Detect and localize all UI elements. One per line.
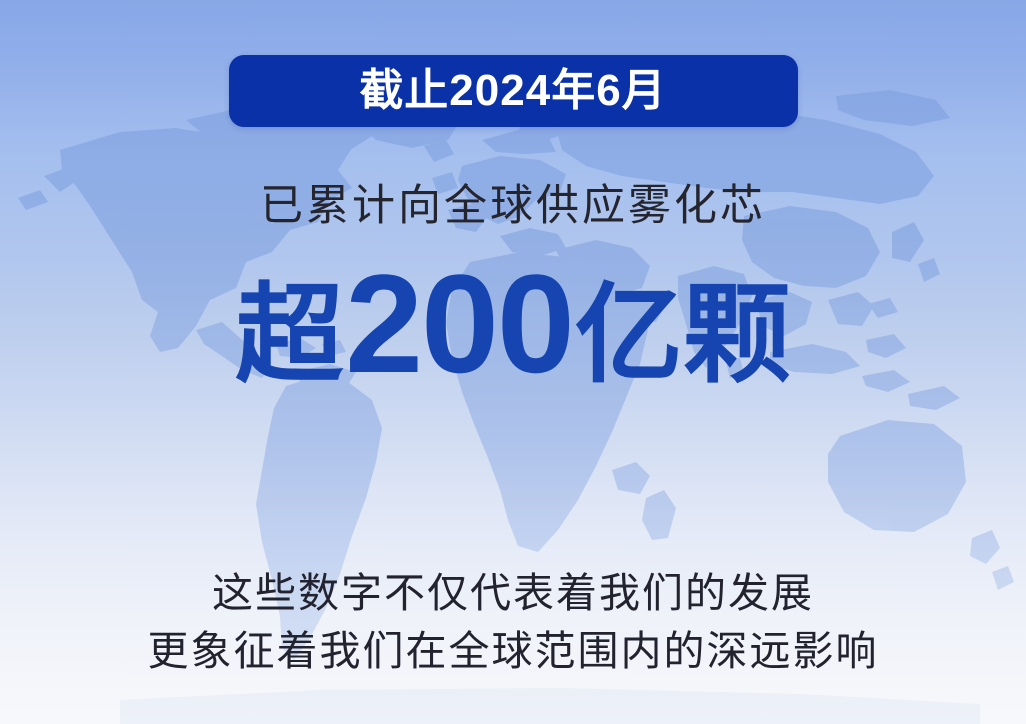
footnote-line-2: 更象征着我们在全球范围内的深远影响	[0, 622, 1026, 680]
headline-stat: 超 200 亿颗	[235, 254, 791, 394]
headline-number: 200	[345, 254, 573, 394]
subtitle-text: 已累计向全球供应雾化芯	[260, 185, 766, 228]
footnote-block: 这些数字不仅代表着我们的发展 更象征着我们在全球范围内的深远影响	[0, 564, 1026, 680]
footnote-line-1: 这些数字不仅代表着我们的发展	[0, 564, 1026, 622]
headline-suffix: 亿颗	[575, 281, 791, 389]
date-badge-label: 截止2024年6月	[359, 69, 666, 113]
poster-content: 截止2024年6月 已累计向全球供应雾化芯 超 200 亿颗 这些数字不仅代表着…	[0, 0, 1026, 724]
date-badge: 截止2024年6月	[229, 55, 798, 127]
poster-canvas: 截止2024年6月 已累计向全球供应雾化芯 超 200 亿颗 这些数字不仅代表着…	[0, 0, 1026, 724]
headline-prefix: 超	[235, 281, 343, 389]
